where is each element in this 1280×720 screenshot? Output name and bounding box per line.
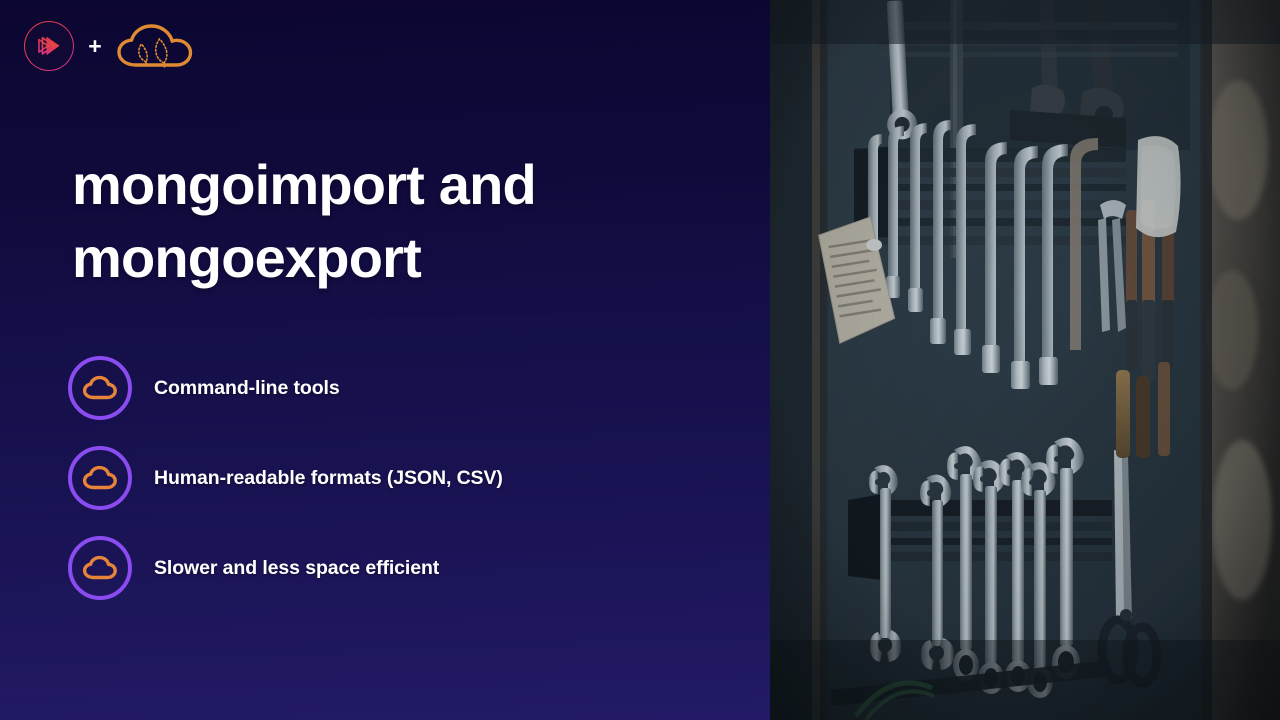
bullet-list: Command-line tools Human-readable format… xyxy=(68,356,728,600)
presentation-slide: + mongoimport and mongoexport xyxy=(0,0,1280,720)
workshop-tools-wall-photo xyxy=(770,0,1280,720)
slide-content-panel: + mongoimport and mongoexport xyxy=(0,0,772,720)
bullet-label: Command-line tools xyxy=(154,377,340,400)
brand-logo-row: + xyxy=(24,20,198,72)
bullet-label: Human-readable formats (JSON, CSV) xyxy=(154,467,503,490)
slide-title-line-2: mongoexport xyxy=(72,221,692,294)
plus-separator-icon: + xyxy=(78,35,112,58)
play-triangle-logo-icon xyxy=(24,21,74,71)
bullet-item: Human-readable formats (JSON, CSV) xyxy=(68,446,728,510)
slide-title: mongoimport and mongoexport xyxy=(72,148,692,294)
cloud-icon xyxy=(68,536,132,600)
cloud-icon xyxy=(68,356,132,420)
mongodb-cloud-logo-icon xyxy=(116,21,198,71)
bullet-item: Slower and less space efficient xyxy=(68,536,728,600)
bullet-label: Slower and less space efficient xyxy=(154,557,439,580)
bullet-item: Command-line tools xyxy=(68,356,728,420)
slide-title-line-1: mongoimport and xyxy=(72,148,692,221)
cloud-icon xyxy=(68,446,132,510)
